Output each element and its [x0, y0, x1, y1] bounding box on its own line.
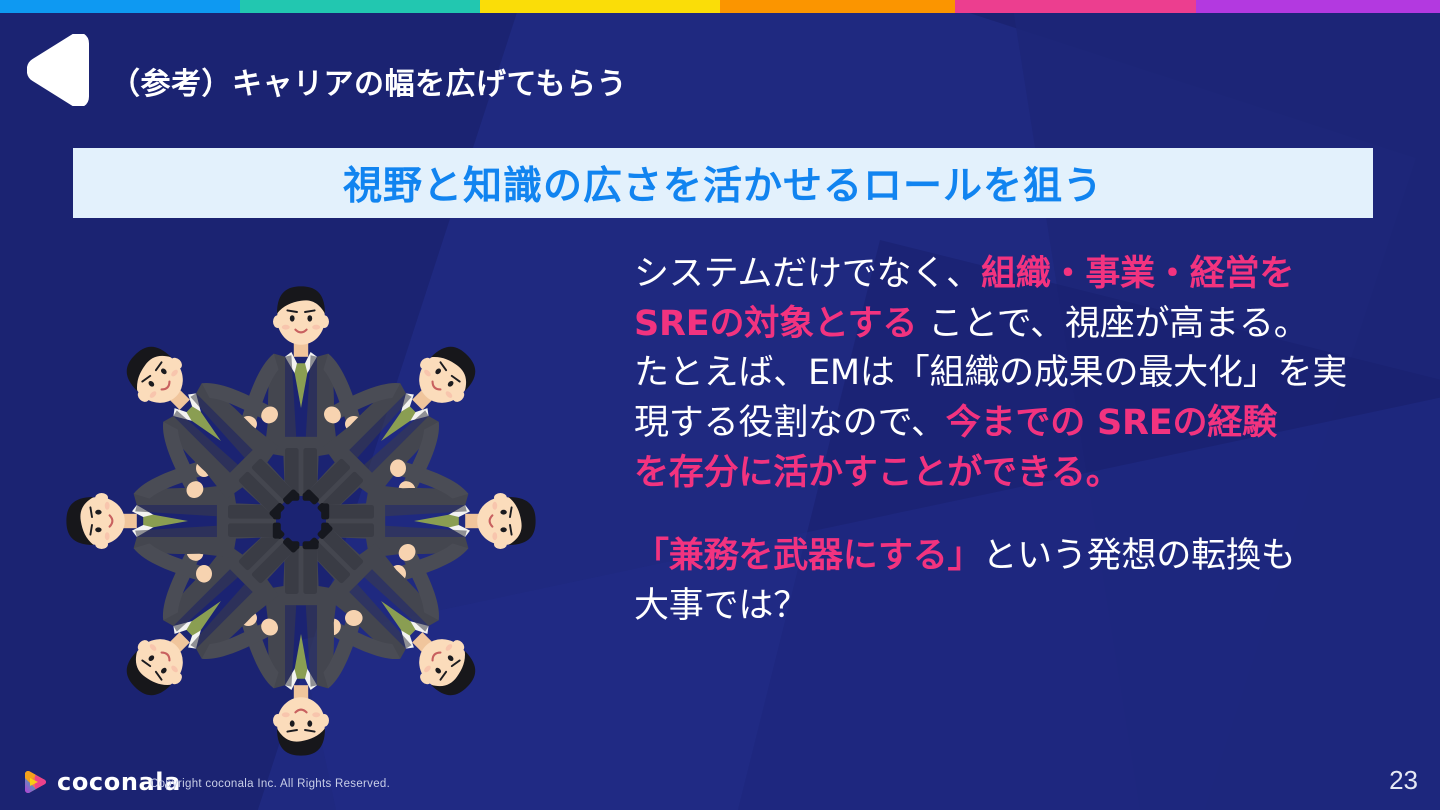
copyright-text: Copyright coconala Inc. All Rights Reser…: [150, 778, 390, 790]
top-bar-segment-pink: [955, 0, 1196, 13]
body-line-1: システムだけでなく、組織・事業・経営を: [634, 254, 1294, 294]
body-line-3: たとえば、EMは「組織の成果の最大化」を実: [634, 353, 1347, 393]
body-line-4: 現する役割なので、今までの SREの経験: [634, 403, 1277, 443]
slide: （参考）キャリアの幅を広げてもらう 視野と知識の広さを活かせるロールを狙う: [0, 0, 1440, 810]
body-paragraph-1: システムだけでなく、組織・事業・経営を SREの対象とする ことで、視座が高まる…: [634, 250, 1406, 498]
top-bar-segment-teal: [240, 0, 480, 13]
body-paragraph-2: 「兼務を武器にする」という発想の転換も 大事では？: [634, 532, 1406, 631]
page-number: 23: [1389, 765, 1418, 796]
body-line-6: 「兼務を武器にする」という発想の転換も: [634, 536, 1296, 576]
headline-text: 視野と知識の広さを活かせるロールを狙う: [343, 155, 1103, 211]
top-bar-segment-orange: [720, 0, 955, 13]
body-line-7: 大事では？: [634, 586, 808, 626]
body-line-5: を存分に活かすことができる。: [634, 453, 1121, 493]
paragraph-gap: [634, 498, 1406, 532]
page-title: （参考）キャリアの幅を広げてもらう: [110, 59, 627, 103]
body-line-2: SREの対象とする ことで、視座が高まる。: [634, 304, 1309, 344]
slide-footer: coconala Copyright coconala Inc. All Rig…: [0, 750, 1440, 810]
headline-band: 視野と知識の広さを活かせるロールを狙う: [73, 148, 1373, 218]
top-bar-segment-blue: [0, 0, 240, 13]
body-copy: システムだけでなく、組織・事業・経営を SREの対象とする ことで、視座が高まる…: [634, 250, 1406, 632]
triangle-left-icon: [27, 34, 89, 106]
top-bar-segment-purple: [1196, 0, 1440, 13]
coconala-play-mark-icon: [22, 769, 48, 795]
people-holding-hands-circle-illustration: [18, 238, 584, 768]
slide-header: （参考）キャリアの幅を広げてもらう: [0, 13, 1440, 123]
top-bar-segment-yellow: [480, 0, 720, 13]
top-color-bar: [0, 0, 1440, 13]
